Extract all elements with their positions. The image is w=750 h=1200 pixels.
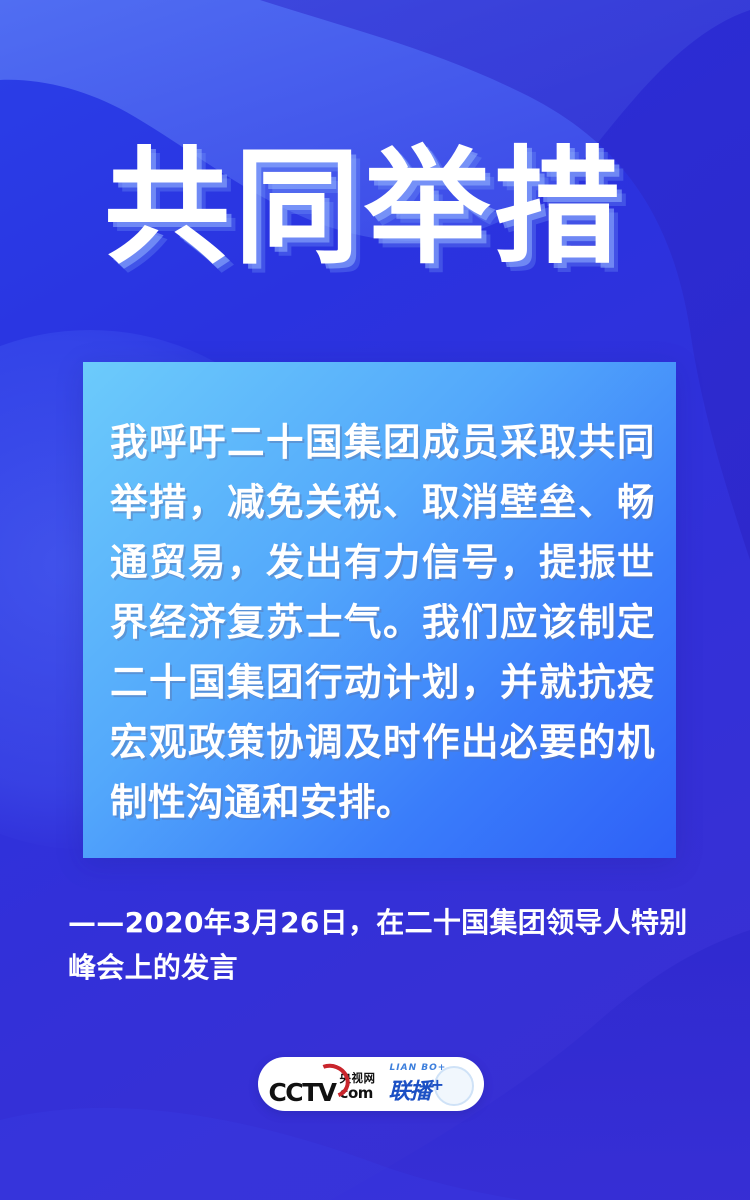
lianbo-plus-label: + bbox=[431, 1075, 443, 1094]
logo-pill: CCTV 央视网 com LIAN BO+ 联播+ bbox=[258, 1057, 484, 1111]
quote-card: 我呼吁二十国集团成员采取共同举措，减免关税、取消壁垒、畅通贸易，发出有力信号，提… bbox=[83, 362, 676, 858]
lianbo-chinese-text: 联播 bbox=[389, 1080, 431, 1105]
quote-text: 我呼吁二十国集团成员采取共同举措，减免关税、取消壁垒、畅通贸易，发出有力信号，提… bbox=[110, 412, 655, 832]
page-title: 共同举措 bbox=[104, 128, 704, 298]
poster-canvas: 共同举措 我呼吁二十国集团成员采取共同举措，减免关税、取消壁垒、畅通贸易，发出有… bbox=[0, 0, 750, 1200]
lianbo-latin-label: LIAN BO+ bbox=[390, 1063, 474, 1073]
cctv-logo: CCTV 央视网 com bbox=[268, 1067, 375, 1101]
lianbo-chinese-label: 联播+ bbox=[389, 1073, 474, 1104]
lianbo-logo: LIAN BO+ 联播+ bbox=[388, 1064, 474, 1104]
attribution-line: ——2020年3月26日，在二十国集团领导人特别峰会上的发言 bbox=[68, 900, 708, 990]
